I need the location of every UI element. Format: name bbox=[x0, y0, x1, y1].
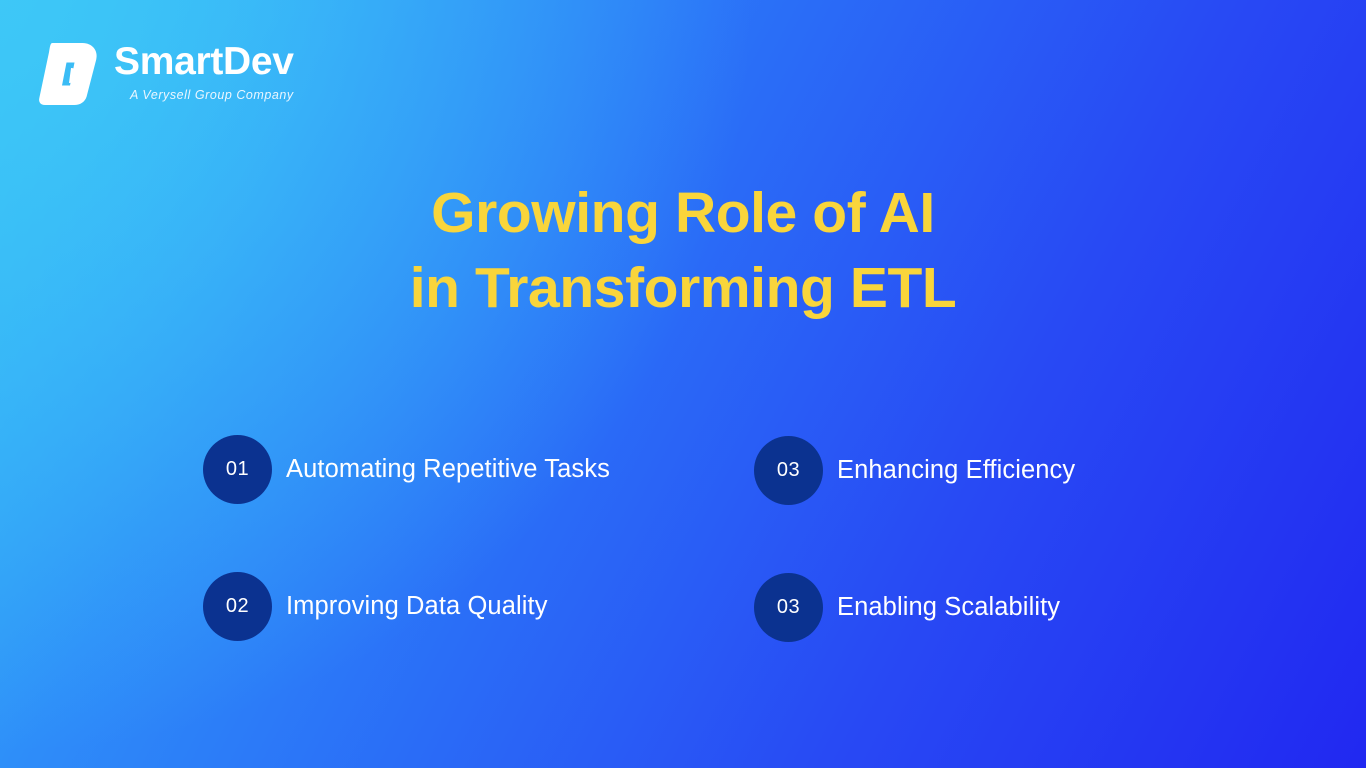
feature-grid: 01 Automating Repetitive Tasks 03 Enhanc… bbox=[203, 368, 1123, 642]
page-title-line-1: Growing Role of AI bbox=[0, 176, 1366, 251]
feature-number-badge: 03 bbox=[754, 436, 823, 505]
feature-label: Improving Data Quality bbox=[286, 591, 548, 622]
feature-number-badge: 01 bbox=[203, 435, 272, 504]
feature-label: Automating Repetitive Tasks bbox=[286, 454, 610, 485]
page-title: Growing Role of AI in Transforming ETL bbox=[0, 176, 1366, 325]
feature-label: Enhancing Efficiency bbox=[837, 455, 1075, 486]
brand-logo: SmartDev A Verysell Group Company bbox=[38, 41, 294, 107]
page-title-line-2: in Transforming ETL bbox=[0, 251, 1366, 326]
feature-label: Enabling Scalability bbox=[837, 592, 1060, 623]
feature-number-badge: 03 bbox=[754, 573, 823, 642]
feature-item-4: 03 Enabling Scalability bbox=[754, 571, 1123, 642]
feature-item-1: 01 Automating Repetitive Tasks bbox=[203, 368, 754, 571]
brand-name: SmartDev bbox=[114, 42, 294, 82]
feature-number-badge: 02 bbox=[203, 572, 272, 641]
smartdev-d-mark-icon bbox=[38, 41, 100, 107]
brand-tagline: A Verysell Group Company bbox=[130, 89, 294, 102]
feature-item-2: 03 Enhancing Efficiency bbox=[754, 368, 1123, 571]
feature-item-3: 02 Improving Data Quality bbox=[203, 571, 754, 642]
slide-canvas: SmartDev A Verysell Group Company Growin… bbox=[0, 0, 1366, 768]
